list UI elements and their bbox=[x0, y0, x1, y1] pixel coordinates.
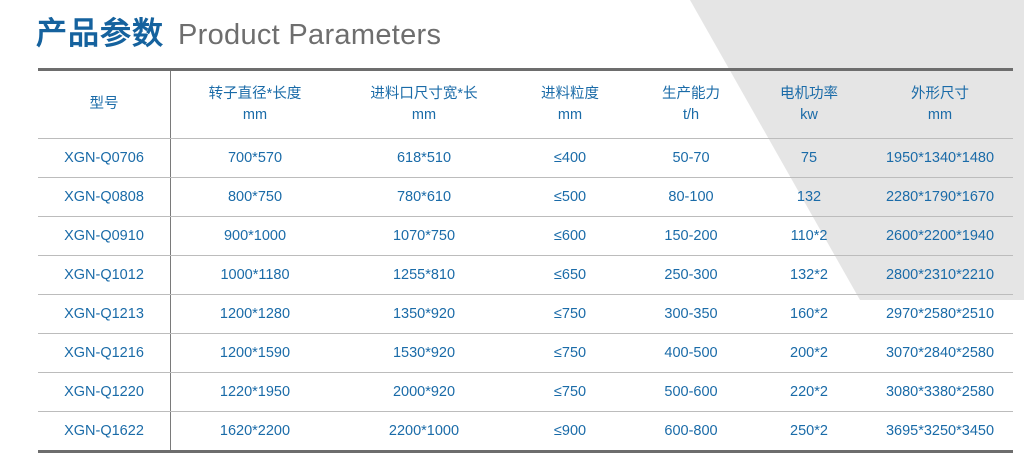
cell-feed-opening-size: 1530*920 bbox=[339, 334, 509, 373]
cell-overall-dimensions: 3695*3250*3450 bbox=[867, 412, 1013, 452]
cell-overall-dimensions: 2800*2310*2210 bbox=[867, 256, 1013, 295]
cell-capacity: 150-200 bbox=[631, 217, 751, 256]
cell-capacity: 500-600 bbox=[631, 373, 751, 412]
cell-feed-particle-size: ≤900 bbox=[509, 412, 631, 452]
column-header-capacity-label: 生产能力 bbox=[662, 86, 720, 102]
column-header-model-label: 型号 bbox=[90, 96, 119, 112]
column-header-overall-label: 外形尺寸 bbox=[911, 86, 969, 102]
table-row: XGN-Q0808800*750780*610≤50080-1001322280… bbox=[38, 178, 1013, 217]
column-header-capacity: 生产能力 t/h bbox=[631, 70, 751, 139]
table-row: XGN-Q0706700*570618*510≤40050-70751950*1… bbox=[38, 139, 1013, 178]
column-header-rotor-unit: mm bbox=[173, 105, 337, 126]
column-header-feed-opening-unit: mm bbox=[341, 105, 507, 126]
cell-overall-dimensions: 3080*3380*2580 bbox=[867, 373, 1013, 412]
cell-rotor-diameter-length: 1620*2200 bbox=[171, 412, 340, 452]
cell-model: XGN-Q0808 bbox=[38, 178, 171, 217]
column-header-motor-power: 电机功率 kw bbox=[751, 70, 867, 139]
column-header-model: 型号 bbox=[38, 70, 171, 139]
cell-motor-power: 132*2 bbox=[751, 256, 867, 295]
cell-motor-power: 75 bbox=[751, 139, 867, 178]
cell-motor-power: 200*2 bbox=[751, 334, 867, 373]
cell-capacity: 600-800 bbox=[631, 412, 751, 452]
column-header-overall-unit: mm bbox=[869, 105, 1011, 126]
cell-feed-particle-size: ≤500 bbox=[509, 178, 631, 217]
cell-rotor-diameter-length: 1200*1590 bbox=[171, 334, 340, 373]
cell-capacity: 300-350 bbox=[631, 295, 751, 334]
cell-feed-particle-size: ≤400 bbox=[509, 139, 631, 178]
cell-capacity: 50-70 bbox=[631, 139, 751, 178]
page-title-en: Product Parameters bbox=[178, 21, 441, 50]
table-row: XGN-Q12131200*12801350*920≤750300-350160… bbox=[38, 295, 1013, 334]
cell-rotor-diameter-length: 800*750 bbox=[171, 178, 340, 217]
cell-rotor-diameter-length: 1220*1950 bbox=[171, 373, 340, 412]
table-header: 型号 转子直径*长度 mm 进料口尺寸宽*长 mm 进料粒度 mm 生产能力 bbox=[38, 70, 1013, 139]
column-header-rotor-diameter-length: 转子直径*长度 mm bbox=[171, 70, 340, 139]
column-header-power-label: 电机功率 bbox=[780, 86, 838, 102]
cell-rotor-diameter-length: 700*570 bbox=[171, 139, 340, 178]
cell-model: XGN-Q1216 bbox=[38, 334, 171, 373]
column-header-feed-particle-size: 进料粒度 mm bbox=[509, 70, 631, 139]
column-header-feed-size-unit: mm bbox=[511, 105, 629, 126]
cell-motor-power: 160*2 bbox=[751, 295, 867, 334]
cell-rotor-diameter-length: 1000*1180 bbox=[171, 256, 340, 295]
cell-motor-power: 250*2 bbox=[751, 412, 867, 452]
cell-model: XGN-Q1622 bbox=[38, 412, 171, 452]
cell-feed-opening-size: 780*610 bbox=[339, 178, 509, 217]
table-row: XGN-Q12161200*15901530*920≤750400-500200… bbox=[38, 334, 1013, 373]
cell-overall-dimensions: 2280*1790*1670 bbox=[867, 178, 1013, 217]
cell-feed-opening-size: 2000*920 bbox=[339, 373, 509, 412]
table-row: XGN-Q16221620*22002200*1000≤900600-80025… bbox=[38, 412, 1013, 452]
cell-feed-particle-size: ≤650 bbox=[509, 256, 631, 295]
cell-rotor-diameter-length: 1200*1280 bbox=[171, 295, 340, 334]
table-row: XGN-Q12201220*19502000*920≤750500-600220… bbox=[38, 373, 1013, 412]
page-title: 产品参数 Product Parameters bbox=[36, 18, 441, 50]
column-header-feed-size-label: 进料粒度 bbox=[541, 86, 599, 102]
table-body: XGN-Q0706700*570618*510≤40050-70751950*1… bbox=[38, 139, 1013, 452]
cell-model: XGN-Q1213 bbox=[38, 295, 171, 334]
page-title-cn: 产品参数 bbox=[36, 18, 164, 49]
cell-motor-power: 110*2 bbox=[751, 217, 867, 256]
cell-model: XGN-Q1012 bbox=[38, 256, 171, 295]
cell-feed-opening-size: 618*510 bbox=[339, 139, 509, 178]
cell-motor-power: 132 bbox=[751, 178, 867, 217]
cell-overall-dimensions: 2970*2580*2510 bbox=[867, 295, 1013, 334]
cell-feed-particle-size: ≤750 bbox=[509, 334, 631, 373]
cell-feed-particle-size: ≤600 bbox=[509, 217, 631, 256]
table-row: XGN-Q10121000*11801255*810≤650250-300132… bbox=[38, 256, 1013, 295]
column-header-feed-opening-label: 进料口尺寸宽*长 bbox=[370, 86, 477, 102]
cell-capacity: 80-100 bbox=[631, 178, 751, 217]
cell-feed-opening-size: 1350*920 bbox=[339, 295, 509, 334]
column-header-rotor-label: 转子直径*长度 bbox=[209, 86, 302, 102]
cell-motor-power: 220*2 bbox=[751, 373, 867, 412]
cell-feed-particle-size: ≤750 bbox=[509, 295, 631, 334]
specifications-table: 型号 转子直径*长度 mm 进料口尺寸宽*长 mm 进料粒度 mm 生产能力 bbox=[38, 68, 1013, 453]
cell-model: XGN-Q0910 bbox=[38, 217, 171, 256]
cell-model: XGN-Q1220 bbox=[38, 373, 171, 412]
cell-capacity: 400-500 bbox=[631, 334, 751, 373]
cell-overall-dimensions: 1950*1340*1480 bbox=[867, 139, 1013, 178]
cell-feed-particle-size: ≤750 bbox=[509, 373, 631, 412]
cell-feed-opening-size: 2200*1000 bbox=[339, 412, 509, 452]
cell-model: XGN-Q0706 bbox=[38, 139, 171, 178]
product-parameters-page: 产品参数 Product Parameters 型号 转子直径*长度 mm 进料… bbox=[0, 0, 1024, 475]
table-header-row: 型号 转子直径*长度 mm 进料口尺寸宽*长 mm 进料粒度 mm 生产能力 bbox=[38, 70, 1013, 139]
cell-overall-dimensions: 3070*2840*2580 bbox=[867, 334, 1013, 373]
cell-capacity: 250-300 bbox=[631, 256, 751, 295]
column-header-capacity-unit: t/h bbox=[633, 105, 749, 126]
cell-feed-opening-size: 1070*750 bbox=[339, 217, 509, 256]
cell-overall-dimensions: 2600*2200*1940 bbox=[867, 217, 1013, 256]
table-row: XGN-Q0910900*10001070*750≤600150-200110*… bbox=[38, 217, 1013, 256]
column-header-power-unit: kw bbox=[753, 105, 865, 126]
cell-rotor-diameter-length: 900*1000 bbox=[171, 217, 340, 256]
column-header-overall-dimensions: 外形尺寸 mm bbox=[867, 70, 1013, 139]
cell-feed-opening-size: 1255*810 bbox=[339, 256, 509, 295]
column-header-feed-opening-size: 进料口尺寸宽*长 mm bbox=[339, 70, 509, 139]
